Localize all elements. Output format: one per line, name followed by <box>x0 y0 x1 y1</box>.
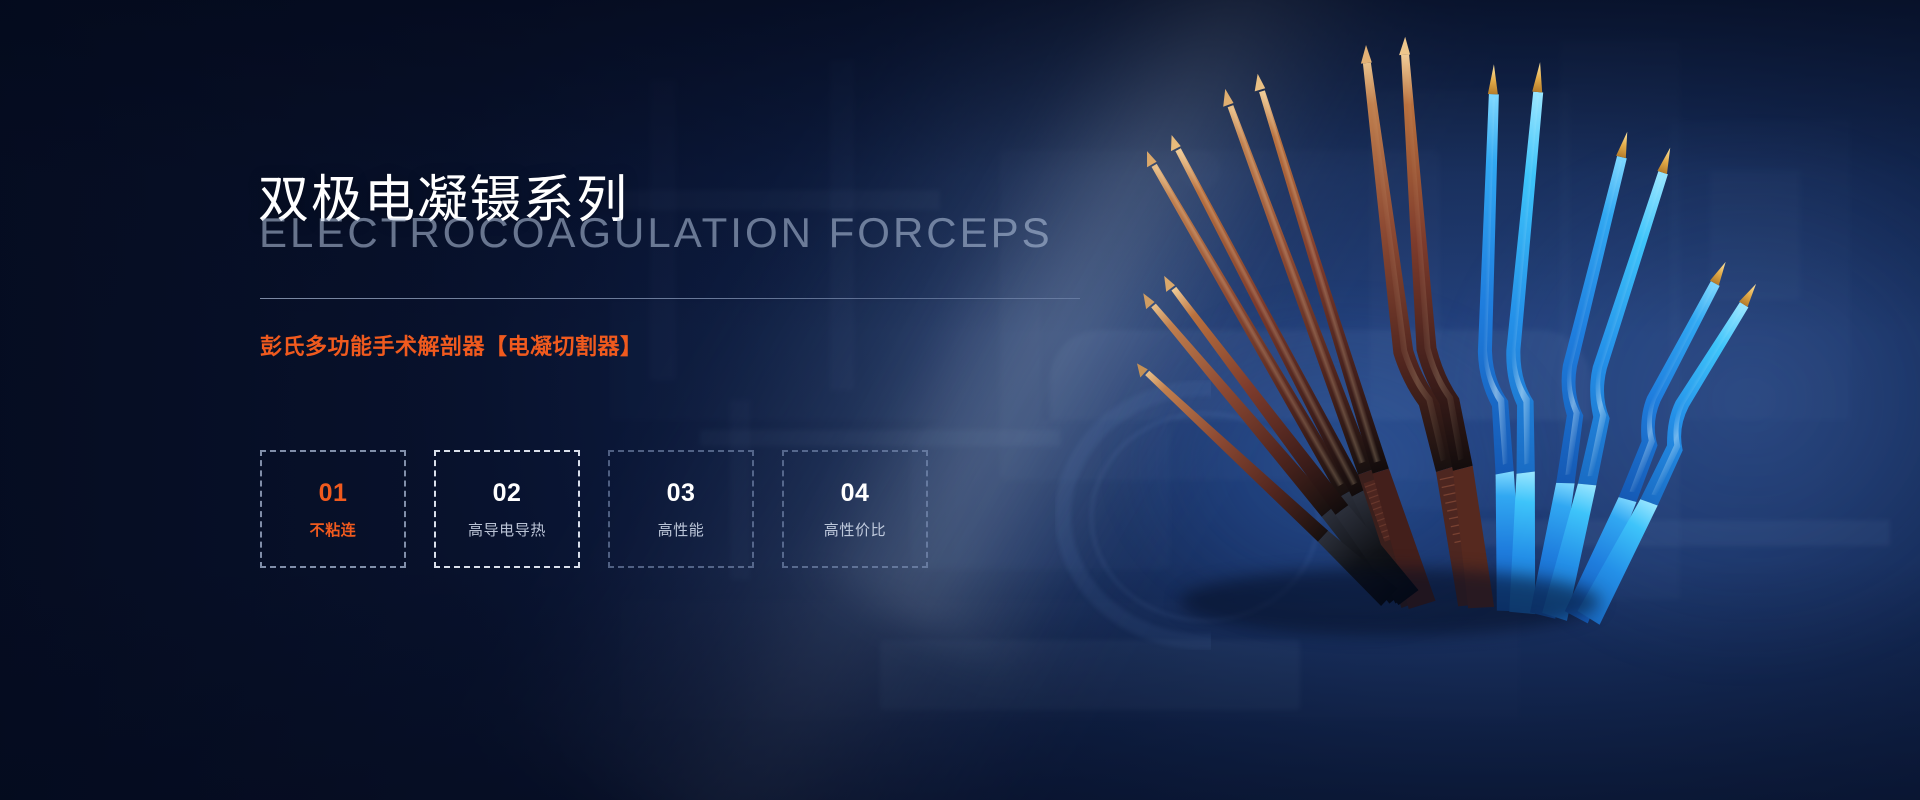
feature-item-03[interactable]: 03 高性能 <box>608 450 754 568</box>
feature-label: 不粘连 <box>310 523 357 538</box>
feature-item-02[interactable]: 02 高导电导热 <box>434 450 580 568</box>
feature-list: 01 不粘连 02 高导电导热 03 高性能 04 高性价比 <box>260 450 928 568</box>
feature-number: 02 <box>493 481 522 506</box>
divider <box>260 298 1080 299</box>
product-banner: 双极电凝镊系列 ELECTROCOAGULATION FORCEPS 彭氏多功能… <box>0 0 1920 800</box>
feature-label: 高导电导热 <box>468 523 546 538</box>
feature-label: 高性能 <box>658 523 705 538</box>
forceps-product-image <box>1060 50 1680 610</box>
feature-number: 01 <box>319 481 348 506</box>
feature-number: 04 <box>841 481 870 506</box>
feature-number: 03 <box>667 481 696 506</box>
page-subtitle-english: ELECTROCOAGULATION FORCEPS <box>259 212 1053 254</box>
product-tagline: 彭氏多功能手术解剖器【电凝切割器】 <box>260 336 643 358</box>
feature-label: 高性价比 <box>824 523 886 538</box>
text-content: 双极电凝镊系列 ELECTROCOAGULATION FORCEPS 彭氏多功能… <box>258 0 1118 800</box>
feature-item-04[interactable]: 04 高性价比 <box>782 450 928 568</box>
feature-item-01[interactable]: 01 不粘连 <box>260 450 406 568</box>
